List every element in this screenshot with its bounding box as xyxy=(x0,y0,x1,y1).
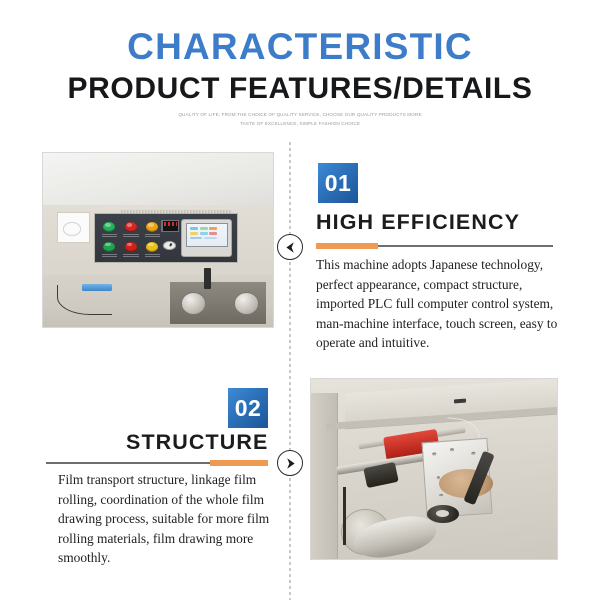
photo1-hmi-screen xyxy=(186,223,228,247)
product-photo-control-panel xyxy=(42,152,274,328)
photo1-blue-connector xyxy=(82,284,112,292)
section-heading-01: HIGH EFFICIENCY xyxy=(316,212,520,234)
page-header: CHARACTERISTIC PRODUCT FEATURES/DETAILS … xyxy=(0,0,600,140)
photo1-button-label-1 xyxy=(102,234,118,237)
photo1-screen-key-1 xyxy=(190,227,198,230)
arrow-right-circle-icon[interactable] xyxy=(277,450,303,476)
photo1-button-red-1 xyxy=(125,222,137,232)
section-body-01: This machine adopts Japanese technology,… xyxy=(316,255,564,353)
photo1-black-post xyxy=(204,268,211,289)
photo1-gauge-1-dup xyxy=(163,241,176,250)
section-badge-01: 01 xyxy=(318,163,358,203)
photo1-hmi-touchscreen xyxy=(181,219,232,257)
photo2-plate-hole-3 xyxy=(471,452,475,455)
photo1-button-label-4 xyxy=(102,254,118,257)
section-rule-02-accent xyxy=(210,460,268,466)
photo1-button-amber-1 xyxy=(146,222,158,232)
photo1-screen-key-5 xyxy=(200,232,208,235)
photo1-roller-right xyxy=(234,292,259,315)
photo2-adjustment-knob xyxy=(427,505,459,523)
photo1-screen-key-3 xyxy=(209,227,217,230)
photo1-button-label-6 xyxy=(145,254,161,257)
photo1-screen-key-4 xyxy=(190,232,198,235)
photo2-plate-hole-1 xyxy=(432,453,436,456)
photo1-screen-key-7 xyxy=(190,237,202,240)
photo1-button-label-2 xyxy=(123,234,139,237)
photo1-screen-key-2 xyxy=(200,227,208,230)
photo2-plate-hole-5 xyxy=(439,494,443,497)
photo1-screen-key-6 xyxy=(209,232,217,235)
photo2-machine-side-panel xyxy=(311,393,338,559)
product-features-page: CHARACTERISTIC PRODUCT FEATURES/DETAILS … xyxy=(0,0,600,600)
section-rule-01 xyxy=(316,243,553,249)
photo1-button-red-2 xyxy=(125,242,137,252)
photo1-button-label-3 xyxy=(145,234,161,237)
photo1-button-green-2 xyxy=(103,242,115,252)
vertical-dashed-divider xyxy=(289,142,291,600)
page-title: CHARACTERISTIC xyxy=(0,28,600,65)
section-heading-02: STRUCTURE xyxy=(126,432,268,454)
section-body-02: Film transport structure, linkage film r… xyxy=(58,470,278,568)
section-badge-02: 02 xyxy=(228,388,268,428)
page-subtitle: PRODUCT FEATURES/DETAILS xyxy=(0,74,600,104)
photo1-control-panel xyxy=(94,213,239,263)
photo1-screen-key-8 xyxy=(204,237,217,240)
photo1-button-green-1 xyxy=(103,222,115,232)
photo1-label-sticker xyxy=(57,212,90,243)
tagline-line-2: TASTE OF EXCELLENCE, SIMPLE FASHION CHOI… xyxy=(0,122,600,127)
photo2-shelf-slot xyxy=(454,398,466,402)
photo1-roller-left xyxy=(181,292,206,315)
photo2-dark-stripe xyxy=(343,487,346,545)
arrow-left-circle-icon[interactable] xyxy=(277,234,303,260)
photo1-button-amber-2 xyxy=(146,242,158,252)
section-rule-01-accent xyxy=(316,243,378,249)
product-photo-film-transport xyxy=(310,378,558,560)
photo1-button-label-5 xyxy=(123,254,139,257)
section-rule-02 xyxy=(46,460,268,466)
tagline-line-1: QUALITY OF LIFE, FROM THE CHOICE OF QUAL… xyxy=(0,113,600,118)
photo1-backdrop xyxy=(43,153,273,212)
photo2-plate-hole-2 xyxy=(450,449,454,452)
photo1-temp-controller-left xyxy=(162,220,179,232)
